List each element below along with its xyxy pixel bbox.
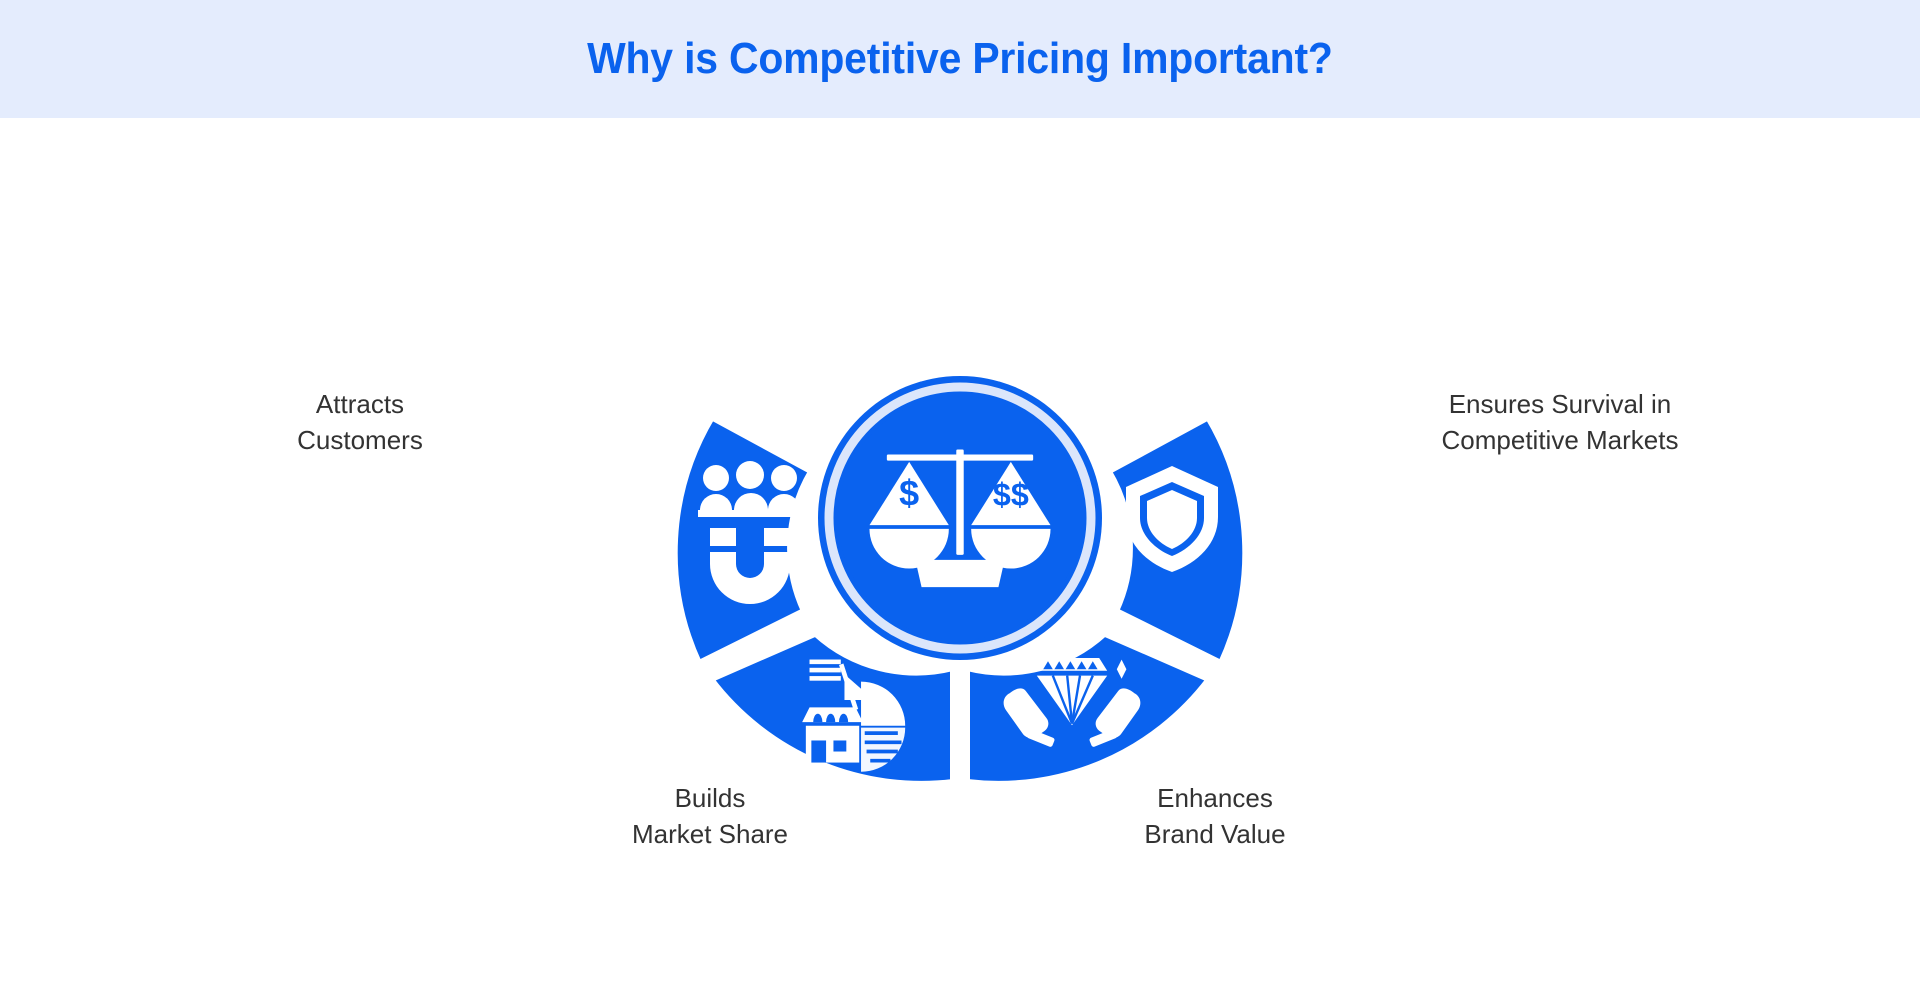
page-title: Why is Competitive Pricing Important? (587, 34, 1333, 84)
segment-label-enhances-brand-value: Enhances Brand Value (1075, 780, 1355, 852)
segment-label-ensures-survival: Ensures Survival in Competitive Markets (1390, 386, 1730, 458)
segment-enhances-brand-value[interactable] (967, 634, 1209, 784)
infographic-canvas: Why is Competitive Pricing Important? (0, 0, 1920, 999)
segment-attracts-customers[interactable] (675, 417, 811, 663)
segment-label-attracts-customers: Attracts Customers (210, 386, 510, 458)
competitive-pricing-wheel-diagram: $ $$ Attracts Customers Ensures Survival… (0, 118, 1920, 999)
segment-label-builds-market-share: Builds Market Share (570, 780, 850, 852)
wheel-svg: $ $$ (560, 218, 1360, 818)
left-pan-symbol: $ (899, 472, 919, 513)
center-hub: $ $$ (818, 376, 1102, 660)
header-band: Why is Competitive Pricing Important? (0, 0, 1920, 118)
right-pan-symbol: $$ (993, 476, 1029, 512)
